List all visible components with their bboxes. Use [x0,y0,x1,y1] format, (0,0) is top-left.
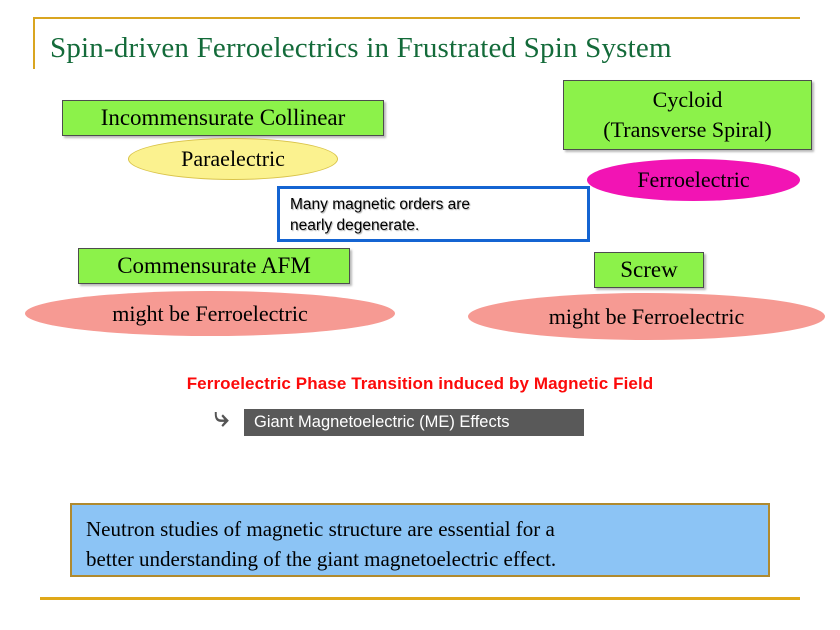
top-vertical-rule [33,17,35,69]
result-badge-giant-me-effects: Giant Magnetoelectric (ME) Effects [244,409,584,436]
property-ellipse-might-be-ferroelectric-right: might be Ferroelectric [468,293,825,340]
phase-box-incommensurate-collinear: Incommensurate Collinear [62,100,384,136]
note-line-1: Many magnetic orders are [290,194,579,215]
phase-box-cycloid-line1: Cycloid [653,85,723,115]
slide-canvas: Spin-driven Ferroelectrics in Frustrated… [0,0,840,630]
phase-box-cycloid: Cycloid (Transverse Spiral) [563,80,812,150]
property-ellipse-might-be-ferroelectric-left: might be Ferroelectric [25,291,395,336]
page-title: Spin-driven Ferroelectrics in Frustrated… [50,30,790,66]
property-ellipse-paraelectric: Paraelectric [128,138,338,180]
bottom-horizontal-rule [40,597,800,600]
phase-box-commensurate-afm: Commensurate AFM [78,248,350,284]
callout-headline: Ferroelectric Phase Transition induced b… [0,374,840,394]
phase-box-cycloid-line2: (Transverse Spiral) [603,115,771,145]
conclusion-line-2: better understanding of the giant magnet… [86,544,754,574]
note-box-degeneracy: Many magnetic orders are nearly degenera… [277,186,590,242]
note-line-2: nearly degenerate. [290,215,579,236]
down-right-arrow-icon: ⤷ [214,404,229,431]
conclusion-line-1: Neutron studies of magnetic structure ar… [86,514,754,544]
property-ellipse-ferroelectric: Ferroelectric [587,159,800,201]
conclusion-box: Neutron studies of magnetic structure ar… [70,503,770,577]
top-horizontal-rule [33,17,800,19]
phase-box-screw: Screw [594,252,704,288]
